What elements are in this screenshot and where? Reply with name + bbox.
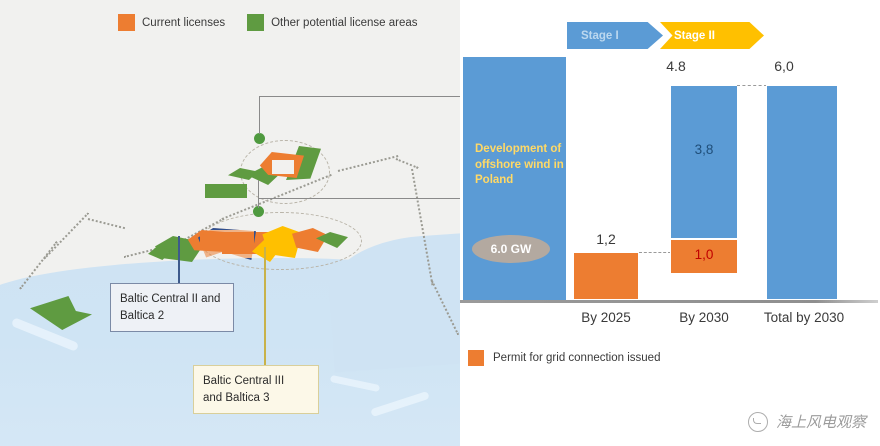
watermark-text: 海上风电观察	[776, 411, 866, 432]
license-area-orange-n2	[272, 160, 294, 174]
chart-panel: Development of offshore wind in Poland 6…	[460, 0, 880, 446]
bar-total-label-2025: 1,2	[568, 231, 644, 247]
category-label-total: Total by 2030	[752, 310, 856, 325]
connector-dashed-2030-total	[737, 85, 767, 86]
legend-label-current-licenses: Current licenses	[142, 17, 225, 29]
stage-banner-2-label: Stage II	[660, 30, 715, 42]
connector-dashed-2025-2030	[639, 252, 671, 253]
orange-square-swatch-icon	[118, 14, 135, 31]
chart-title-text: Development of offshore wind in Poland	[475, 142, 567, 189]
callout-line-1: Baltic Central II and	[120, 291, 224, 308]
bar-2030-orange-label: 1,0	[670, 247, 738, 262]
legend-label-other-areas: Other potential license areas	[271, 17, 417, 29]
connector-horizontal-south	[258, 198, 460, 199]
chart-legend: Permit for grid connection issued	[468, 350, 660, 366]
legend-item-current-licenses: Current licenses	[118, 14, 225, 31]
callout-baltic-central-3[interactable]: Baltic Central III and Baltica 3	[193, 365, 319, 414]
bar-2030-blue-label: 3,8	[670, 142, 738, 157]
callout-leader-line-1	[178, 236, 180, 284]
watermark: 海上风电观察	[748, 411, 866, 432]
stage-banner-1-label: Stage I	[567, 30, 619, 42]
connector-horizontal-north	[259, 96, 460, 97]
callout-line-2: Baltica 2	[120, 308, 224, 325]
callout-baltic-central-2[interactable]: Baltic Central II and Baltica 2	[110, 283, 234, 332]
license-area-green-n3	[205, 184, 247, 198]
stage-banner-2: Stage II	[660, 22, 764, 49]
chart-legend-label: Permit for grid connection issued	[493, 352, 660, 364]
category-label-2025: By 2025	[566, 310, 646, 325]
circle-face-logo-icon	[748, 412, 768, 432]
green-square-swatch-icon	[247, 14, 264, 31]
capacity-badge: 6.0 GW	[472, 235, 550, 263]
bar-2025-orange	[573, 252, 639, 300]
callout-line-1: Baltic Central III	[203, 373, 309, 390]
legend-item-other-areas: Other potential license areas	[247, 14, 417, 31]
chart-axis-baseline	[460, 300, 878, 303]
map-panel: Current licenses Other potential license…	[0, 0, 460, 446]
connector-vertical-south	[258, 180, 259, 208]
orange-square-swatch-icon	[468, 350, 484, 366]
callout-line-2: and Baltica 3	[203, 390, 309, 407]
bar-2030-blue	[670, 85, 738, 239]
cluster-marker-north	[254, 133, 265, 144]
category-label-2030: By 2030	[664, 310, 744, 325]
callout-leader-line-2	[264, 247, 266, 366]
stage-banner-1: Stage I	[567, 22, 663, 49]
chart-title-block: Development of offshore wind in Poland 6…	[463, 57, 566, 300]
bar-total-label-2030: 4.8	[638, 58, 714, 74]
connector-vertical-north	[259, 96, 260, 134]
bar-total-label-total: 6,0	[746, 58, 822, 74]
bar-total-blue	[766, 85, 838, 300]
screenshot-root: Current licenses Other potential license…	[0, 0, 880, 446]
map-legend: Current licenses Other potential license…	[118, 14, 417, 31]
